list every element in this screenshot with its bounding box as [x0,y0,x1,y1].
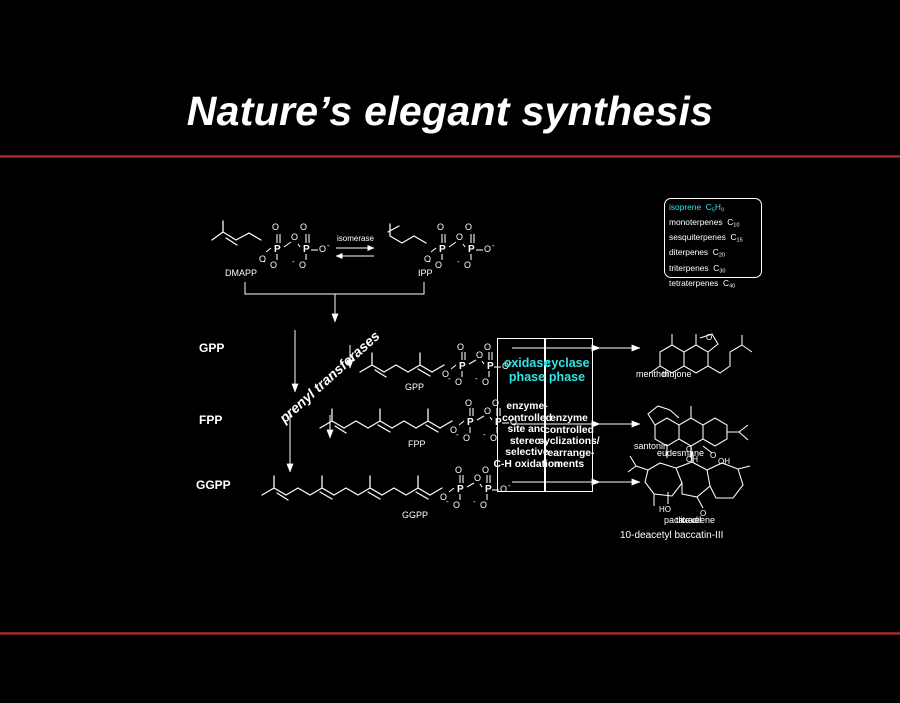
svg-text:O: O [465,222,472,232]
label-ggpp-structure: GGPP [402,510,428,520]
svg-text:O: O [455,377,462,387]
svg-text:O: O [319,244,326,254]
structure-ipp: O P O O O - P O O - O - IPP [388,222,495,278]
label-gpp-structure: GPP [405,382,424,392]
terpene-legend: isoprene C5H9 monoterpenes C10 sesquiter… [664,198,762,278]
structure-dmapp: O P O O O - P O O - O - DMAPP [212,221,330,278]
structure-ggpp: O P O O O - P O O - O - GGPP [262,465,511,520]
product-label-thujone: thujone [662,369,692,379]
svg-text:P: P [457,484,464,495]
legend-isoprene-formula: C5H9 [703,202,724,212]
cyclase-body-line-3: cyclizations/ [534,436,604,448]
label-ipp: IPP [418,268,433,278]
scheme-artwork: O P O O O - P O O - O - DMAPP [0,0,900,703]
svg-text:O: O [476,350,483,360]
svg-text:-: - [456,430,459,439]
svg-text:P: P [303,244,310,255]
svg-text:-: - [448,374,451,383]
svg-text:O: O [464,260,471,270]
legend-item-isoprene: isoprene C5H9 [669,202,757,217]
svg-text:-: - [292,257,295,266]
label-fpp-structure: FPP [408,439,426,449]
svg-text:-: - [457,257,460,266]
svg-text:O: O [437,222,444,232]
svg-text:O: O [291,232,298,242]
svg-text:P: P [468,244,475,255]
cyclase-phase-heading: cyclase phase [536,356,598,384]
svg-text:-: - [446,497,449,506]
svg-text:-: - [473,497,476,506]
legend-triterpenes-name: triterpenes [669,263,709,273]
structure-fpp: O P O O O - P O O - O FPP [320,398,517,449]
svg-text:O: O [455,465,462,475]
structure-product-menthol-thujone: O [650,333,752,373]
legend-item-sesquiterpenes: sesquiterpenes C15 [669,232,757,247]
svg-text:HO: HO [659,505,671,514]
legend-isoprene-name: isoprene [669,202,701,212]
cyclase-heading-line1: cyclase [536,356,598,370]
cyclase-heading-line2: phase [536,370,598,384]
svg-text:O: O [270,260,277,270]
svg-text:O: O [480,500,487,510]
svg-text:OH: OH [718,457,730,466]
pathway-label-ggpp: GGPP [196,478,231,492]
svg-text:P: P [467,417,474,428]
legend-item-diterpenes: diterpenes C20 [669,247,757,262]
label-isomerase: isomerase [337,234,374,243]
svg-text:-: - [483,430,486,439]
svg-text:-: - [475,374,478,383]
pathway-label-fpp: FPP [199,413,222,427]
svg-text:O: O [453,500,460,510]
cyclase-body-line-5: ments [534,459,604,471]
merge-bracket [245,282,424,322]
svg-text:O: O [706,333,712,342]
oxidase-body-line-1: enzyme- [493,401,561,413]
legend-item-tetraterpenes: tetraterpenes C40 [669,278,757,293]
svg-text:O: O [456,232,463,242]
svg-text:P: P [487,361,494,372]
pathway-label-gpp: GPP [199,341,224,355]
svg-text:O: O [435,260,442,270]
svg-text:-: - [327,241,330,250]
product-label-taxadiene: taxadiene [676,515,715,525]
cyclase-body-line-2: controlled [534,425,604,437]
svg-text:O: O [463,433,470,443]
product-label-eudesmane: eudesmane [657,448,704,458]
legend-sesquiterpenes-name: sesquiterpenes [669,232,726,242]
svg-text:-: - [492,241,495,250]
legend-diterpenes-name: diterpenes [669,247,708,257]
svg-text:P: P [274,244,281,255]
label-dmapp: DMAPP [225,268,257,278]
legend-item-monoterpenes: monoterpenes C10 [669,217,757,232]
isomerase-arrows: isomerase [336,234,374,256]
svg-text:O: O [484,342,491,352]
structure-gpp: O P O O O - P O O - O - GPP [360,342,513,392]
svg-text:O: O [474,473,481,483]
svg-text:-: - [428,257,431,266]
svg-text:-: - [263,257,266,266]
svg-text:P: P [439,244,446,255]
svg-text:O: O [710,451,716,460]
svg-text:O: O [484,406,491,416]
svg-text:O: O [272,222,279,232]
svg-text:O: O [484,244,491,254]
cyclase-phase-body: enzyme controlled cyclizations/ rearrang… [534,413,604,471]
legend-tetraterpenes-name: tetraterpenes [669,278,718,288]
product-label-baccatin: 10-deacetyl baccatin-III [620,530,723,541]
svg-text:O: O [300,222,307,232]
slide-canvas: Nature’s elegant synthesis O P O O O [0,0,900,703]
svg-text:O: O [482,465,489,475]
legend-monoterpenes-name: monoterpenes [669,217,723,227]
legend-item-triterpenes: triterpenes C30 [669,263,757,278]
svg-text:O: O [299,260,306,270]
svg-text:P: P [485,484,492,495]
svg-text:O: O [482,377,489,387]
svg-text:P: P [459,361,466,372]
cyclase-body-line-4: rearrange- [534,448,604,460]
svg-text:O: O [465,398,472,408]
svg-text:O: O [457,342,464,352]
cyclase-body-line-1: enzyme [534,413,604,425]
